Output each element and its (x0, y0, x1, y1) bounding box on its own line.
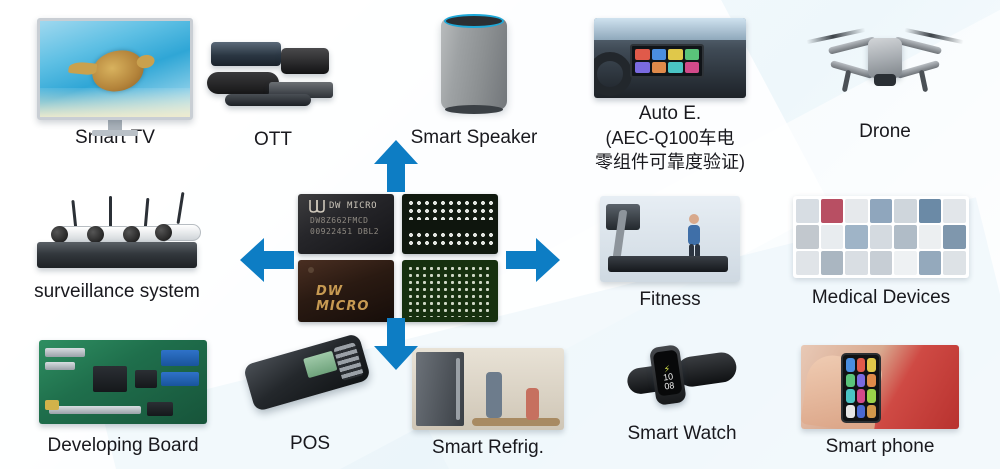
item-label: Smart Watch (612, 422, 752, 445)
item-drone[interactable]: Drone (790, 20, 980, 143)
item-medical-devices[interactable]: Medical Devices (786, 196, 976, 309)
item-sublabel-2: 零组件可靠度验证) (570, 150, 770, 174)
item-smart-phone[interactable]: Smart phone (790, 345, 970, 458)
item-surveillance-system[interactable]: surveillance system (22, 190, 212, 303)
item-developing-board[interactable]: Developing Board (28, 340, 218, 457)
item-auto-electronics[interactable]: Auto E. (AEC-Q100车电 零组件可靠度验证) (570, 18, 770, 174)
item-smart-watch[interactable]: ⚡ 10 08 Smart Watch (612, 336, 752, 445)
item-sublabel-1: (AEC-Q100车电 (570, 126, 770, 150)
item-label: Auto E. (639, 103, 701, 124)
item-smart-tv[interactable]: Smart TV (20, 18, 210, 149)
chip-package-bottom-left: DW MICRO (298, 260, 394, 322)
smart-watch-image: ⚡ 10 08 (622, 329, 742, 422)
item-smart-speaker[interactable]: Smart Speaker (398, 18, 550, 149)
ott-image (203, 38, 343, 124)
smart-phone-image (801, 345, 959, 429)
chip-die-bottom-right (402, 260, 498, 322)
item-pos[interactable]: POS (245, 348, 375, 455)
chip-package-top-left: DW MICRO DW8Z662FMCD 00922451 DBL2 (298, 194, 394, 254)
arrow-up (374, 140, 418, 192)
item-label: OTT (198, 128, 348, 151)
smart-tv-image (37, 18, 193, 126)
item-ott[interactable]: OTT (198, 38, 348, 151)
surveillance-image (29, 190, 205, 274)
item-label: POS (245, 432, 375, 455)
item-smart-refrigerator[interactable]: Smart Refrig. (408, 348, 568, 459)
developing-board-image (39, 340, 207, 424)
pos-image (243, 333, 378, 433)
center-memory-chips: DW MICRO DW8Z662FMCD 00922451 DBL2 DW MI… (298, 194, 498, 322)
dw-micro-logo-icon (309, 199, 325, 213)
chip-lot-code: 00922451 DBL2 (310, 227, 379, 236)
item-label: Smart Refrig. (408, 436, 568, 459)
chip-brand: DW MICRO (329, 201, 377, 211)
watch-time-min: 08 (664, 380, 675, 391)
item-label: Developing Board (28, 434, 218, 457)
item-label: Fitness (595, 288, 745, 311)
chip-part-number: DW8Z662FMCD (310, 216, 368, 225)
item-label: surveillance system (22, 280, 212, 303)
diagram-canvas: Smart TV OTT Smart Speaker Auto E (0, 0, 1000, 469)
drone-image (810, 20, 960, 98)
item-fitness[interactable]: Fitness (595, 196, 745, 311)
watch-screen: ⚡ 10 08 (653, 350, 683, 397)
arrow-down (374, 318, 418, 370)
arrow-right (506, 238, 560, 282)
item-label: Smart phone (790, 435, 970, 458)
chip-die-top-right (402, 194, 498, 254)
smart-speaker-image (441, 18, 507, 118)
medical-devices-image (793, 196, 969, 278)
item-label: Drone (790, 120, 980, 143)
smart-refrigerator-image (412, 348, 564, 430)
item-label: Medical Devices (786, 286, 976, 309)
arrow-left (240, 238, 294, 282)
item-label: Smart Speaker (398, 126, 550, 149)
chip-brand-alt: DW MICRO (316, 284, 394, 314)
auto-electronics-image (594, 18, 746, 98)
item-label-group: Auto E. (AEC-Q100车电 零组件可靠度验证) (570, 102, 770, 174)
fitness-image (600, 196, 740, 282)
